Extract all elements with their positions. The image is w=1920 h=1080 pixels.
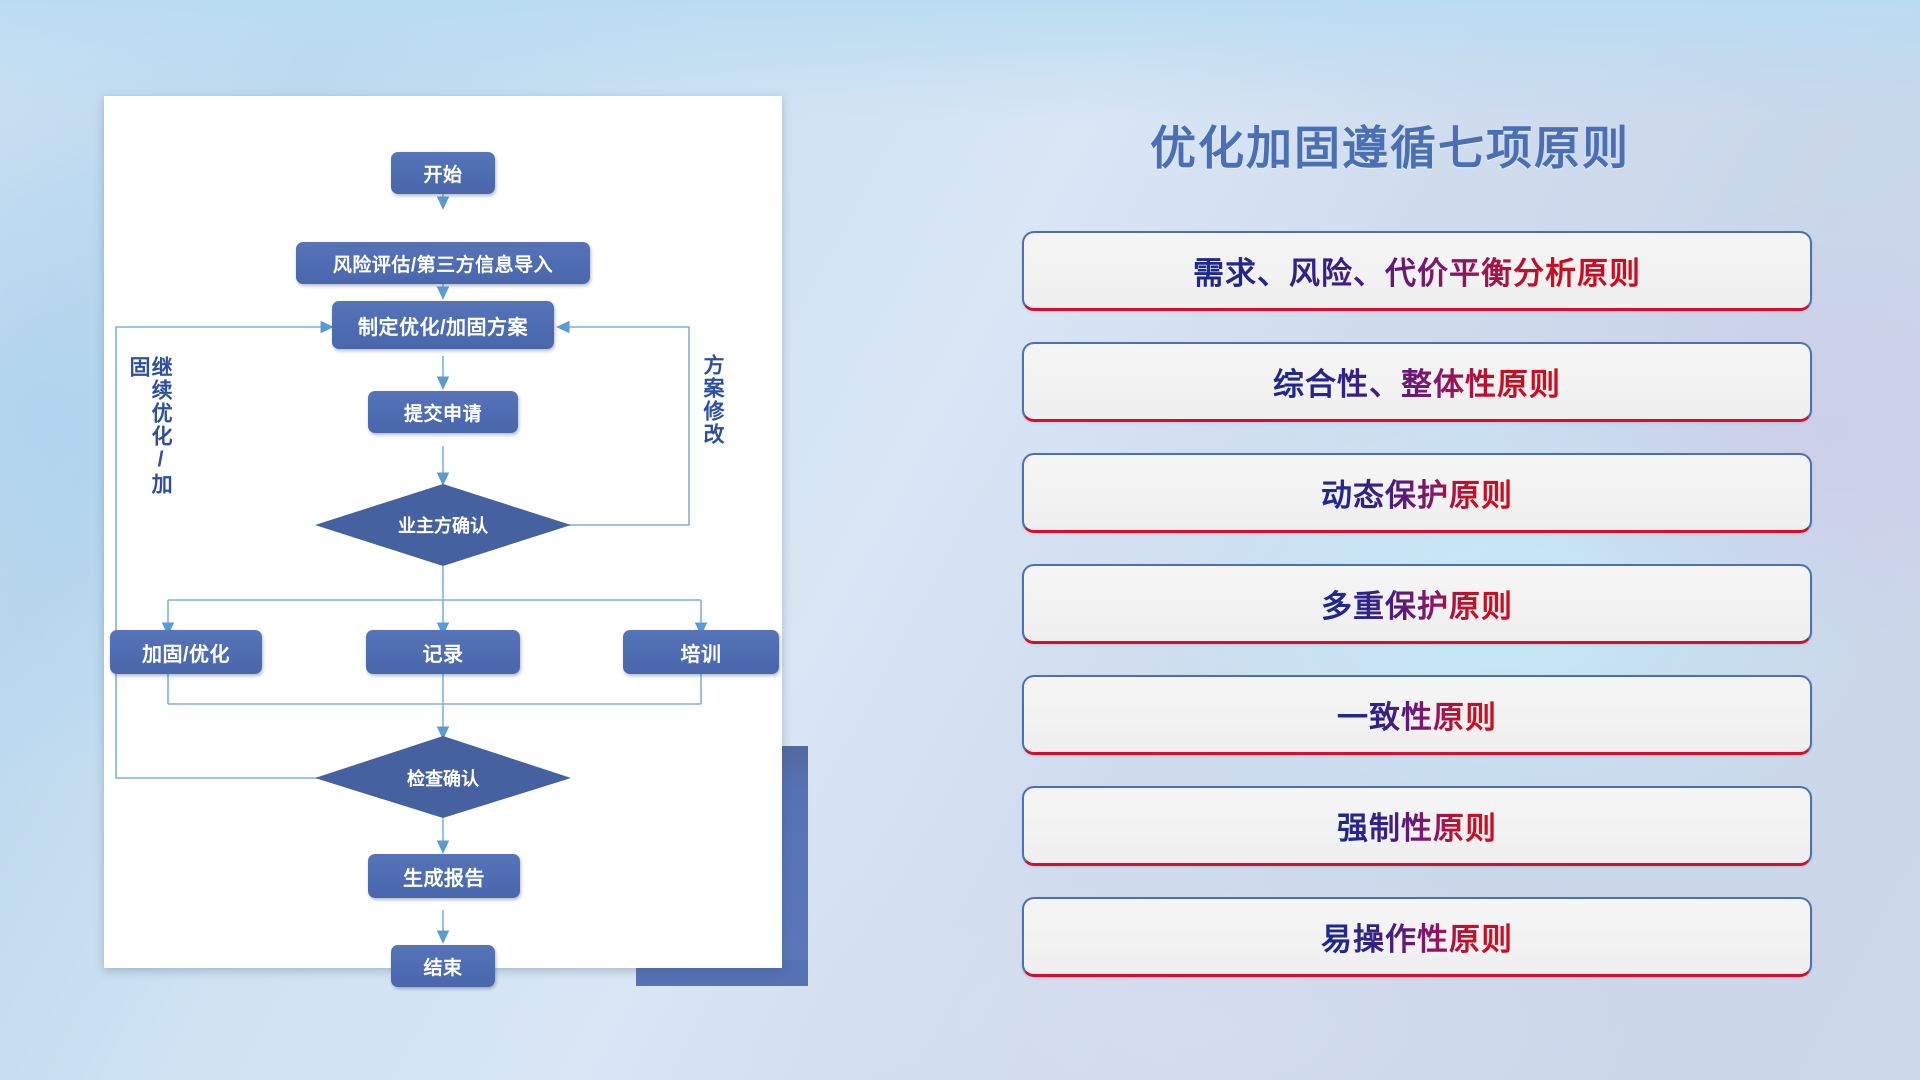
node-generate-report[interactable]: 生成报告 bbox=[368, 854, 520, 898]
principle-label: 需求、风险、代价平衡分析原则 bbox=[1193, 248, 1641, 293]
node-start[interactable]: 开始 bbox=[391, 152, 495, 194]
principle-item-2[interactable]: 综合性、整体性原则 bbox=[1022, 342, 1812, 422]
principle-label: 综合性、整体性原则 bbox=[1273, 359, 1561, 404]
principle-item-4[interactable]: 多重保护原则 bbox=[1022, 564, 1812, 644]
node-training[interactable]: 培训 bbox=[623, 630, 779, 674]
node-record[interactable]: 记录 bbox=[366, 630, 520, 674]
node-risk-assessment[interactable]: 风险评估/第三方信息导入 bbox=[296, 242, 590, 284]
principle-label: 一致性原则 bbox=[1337, 692, 1497, 737]
principle-item-7[interactable]: 易操作性原则 bbox=[1022, 897, 1812, 977]
node-submit-application[interactable]: 提交申请 bbox=[368, 391, 518, 433]
principle-list: 需求、风险、代价平衡分析原则 综合性、整体性原则 动态保护原则 多重保护原则 一… bbox=[1022, 231, 1812, 977]
principle-item-1[interactable]: 需求、风险、代价平衡分析原则 bbox=[1022, 231, 1812, 311]
principle-label: 多重保护原则 bbox=[1321, 581, 1513, 626]
principle-item-6[interactable]: 强制性原则 bbox=[1022, 786, 1812, 866]
node-make-plan[interactable]: 制定优化/加固方案 bbox=[332, 301, 554, 349]
principle-label: 强制性原则 bbox=[1337, 803, 1497, 848]
node-end[interactable]: 结束 bbox=[391, 945, 495, 987]
principle-label: 易操作性原则 bbox=[1321, 914, 1513, 959]
edge-label-plan-revision: 方案修改 bbox=[701, 354, 723, 464]
principle-item-5[interactable]: 一致性原则 bbox=[1022, 675, 1812, 755]
flowchart-card: 开始 风险评估/第三方信息导入 制定优化/加固方案 提交申请 业主方确认 加固/… bbox=[104, 96, 782, 968]
node-owner-confirm-label[interactable]: 业主方确认 bbox=[343, 507, 543, 543]
principle-label: 动态保护原则 bbox=[1321, 470, 1513, 515]
node-reinforce-optimize[interactable]: 加固/优化 bbox=[110, 630, 262, 674]
node-check-confirm-label[interactable]: 检查确认 bbox=[343, 760, 543, 796]
principle-item-3[interactable]: 动态保护原则 bbox=[1022, 453, 1812, 533]
edge-label-continue-optimize: 继续优化/加固 bbox=[127, 356, 171, 496]
page-title: 优化加固遵循七项原则 bbox=[1150, 112, 1630, 178]
